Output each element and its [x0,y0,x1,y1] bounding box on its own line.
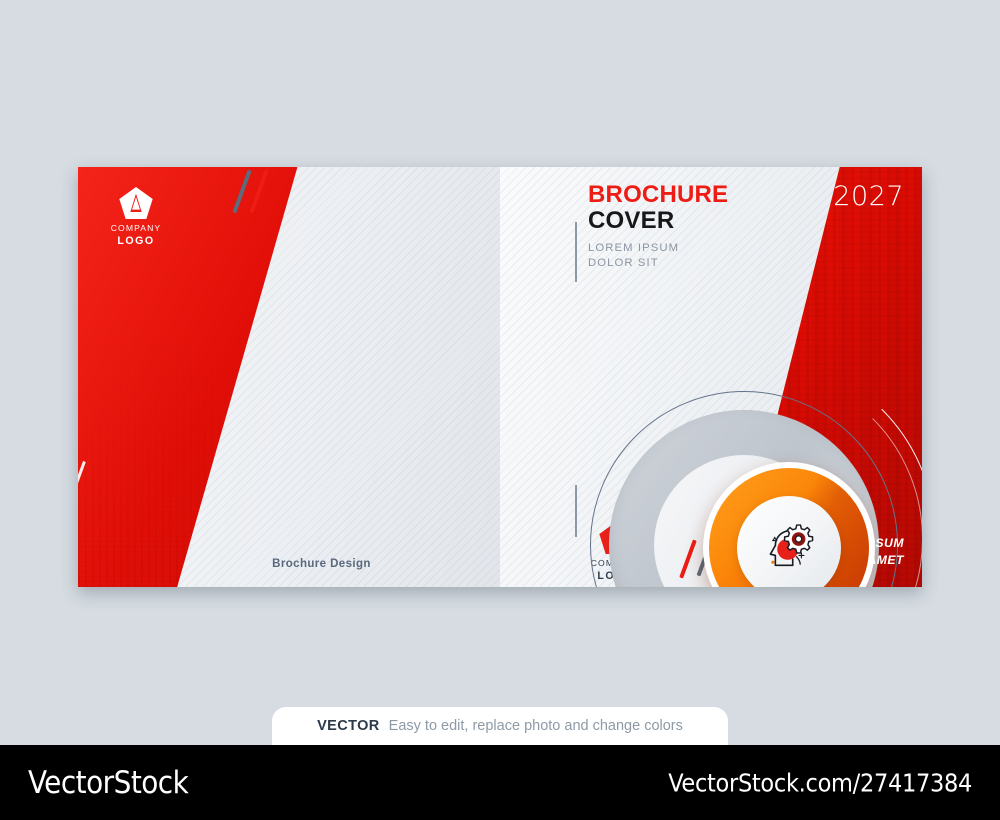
vector-tab-label: VECTOR [317,718,380,734]
subtitle-line-2: DOLOR SIT [588,256,728,271]
brochure-artboard: COMPANY LOGO Brochure Design [78,167,922,587]
logo-line-1: COMPANY [100,223,172,235]
slash-red [249,170,268,214]
brochure-left-page: COMPANY LOGO Brochure Design [78,167,500,587]
title-brochure: BROCHURE [588,182,728,208]
left-company-logo: COMPANY LOGO [100,187,172,247]
logo-line-2: LOGO [100,235,172,248]
subtitle-line-1: LOREM IPSUM [588,241,728,256]
vectorstock-wordmark: VectorStock [28,765,188,801]
vectorstock-url: VectorStock.com/27417384 [668,768,972,797]
left-accent-slashes [238,169,298,221]
pentagon-star-logo-icon [119,187,153,219]
vector-info-tab: VECTOR Easy to edit, replace photo and c… [272,707,728,745]
stock-footer-bar: VectorStock VectorStock.com/27417384 [0,745,1000,820]
cover-year: 2027 [833,181,904,212]
cover-title-block: BROCHURE COVER LOREM IPSUM DOLOR SIT [588,182,728,271]
left-page-caption: Brochure Design [78,558,500,570]
head-with-gear-icon [758,517,820,579]
title-cover: COVER [588,208,728,234]
vector-tab-description: Easy to edit, replace photo and change c… [389,718,683,734]
